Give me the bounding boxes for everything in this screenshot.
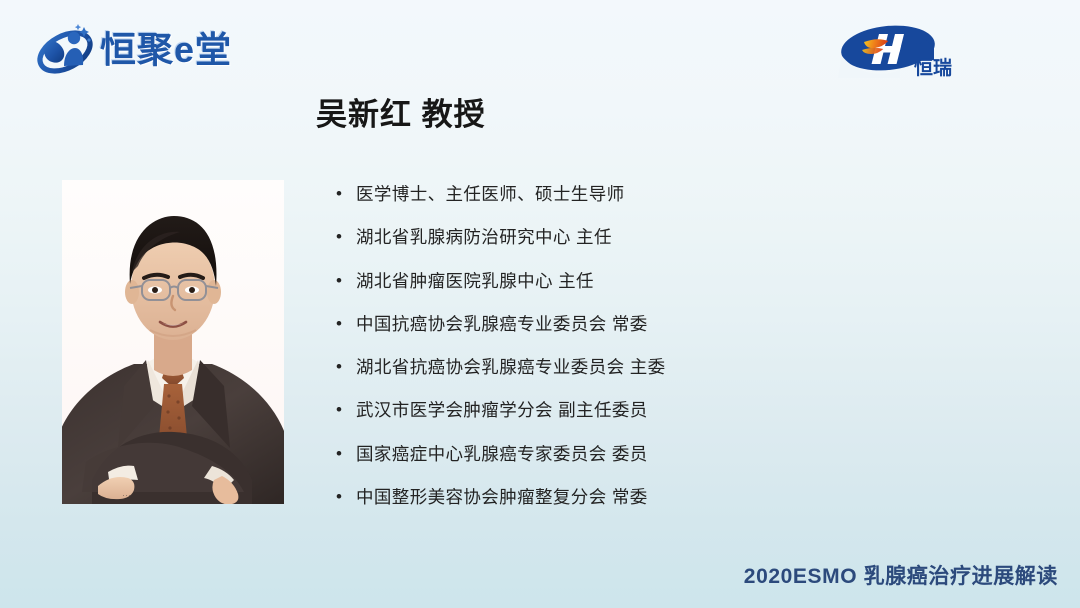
bullet-icon: • [336,180,356,208]
brand-logo-right: 恒瑞 [836,22,962,80]
bullet-icon: • [336,310,356,338]
bullet-icon: • [336,353,356,381]
credential-text: 湖北省肿瘤医院乳腺中心 主任 [356,267,594,295]
bullet-icon: • [336,267,356,295]
swoosh-person-logo-icon [34,21,96,79]
list-item: • 武汉市医学会肿瘤学分会 副主任委员 [336,396,976,439]
brand-logo-left: 恒聚e堂 [34,18,232,82]
hengrui-logo-icon: 恒瑞 [836,22,962,80]
list-item: • 国家癌症中心乳腺癌专家委员会 委员 [336,440,976,483]
footer-title: 2020ESMO 乳腺癌治疗进展解读 [744,560,1058,590]
brand-right-label: 恒瑞 [914,56,952,79]
bullet-icon: • [336,396,356,424]
page-title: 吴新红 教授 [316,96,486,133]
bullet-icon: • [336,483,356,511]
credential-text: 湖北省抗癌协会乳腺癌专业委员会 主委 [356,353,666,381]
bullet-icon: • [336,223,356,251]
bullet-icon: • [336,440,356,468]
credential-text: 中国抗癌协会乳腺癌专业委员会 常委 [356,310,648,338]
credential-text: 武汉市医学会肿瘤学分会 副主任委员 [356,396,648,424]
credential-text: 中国整形美容协会肿瘤整复分会 常委 [356,483,648,511]
credential-text: 国家癌症中心乳腺癌专家委员会 委员 [356,440,648,468]
list-item: • 湖北省乳腺病防治研究中心 主任 [336,223,976,266]
list-item: • 湖北省肿瘤医院乳腺中心 主任 [336,267,976,310]
list-item: • 中国抗癌协会乳腺癌专业委员会 常委 [336,310,976,353]
brand-left-label: 恒聚e堂 [100,32,232,68]
list-item: • 湖北省抗癌协会乳腺癌专业委员会 主委 [336,353,976,396]
list-item: • 医学博士、主任医师、硕士生导师 [336,180,976,223]
credential-text: 湖北省乳腺病防治研究中心 主任 [356,223,612,251]
svg-text:·····: ····· [122,490,137,500]
credential-text: 医学博士、主任医师、硕士生导师 [356,180,625,208]
speaker-portrait-photo: ····· [62,180,284,504]
list-item: • 中国整形美容协会肿瘤整复分会 常委 [336,483,976,526]
credentials-list: • 医学博士、主任医师、硕士生导师 • 湖北省乳腺病防治研究中心 主任 • 湖北… [336,180,976,526]
slide-root: 恒聚e堂 [0,0,1080,608]
